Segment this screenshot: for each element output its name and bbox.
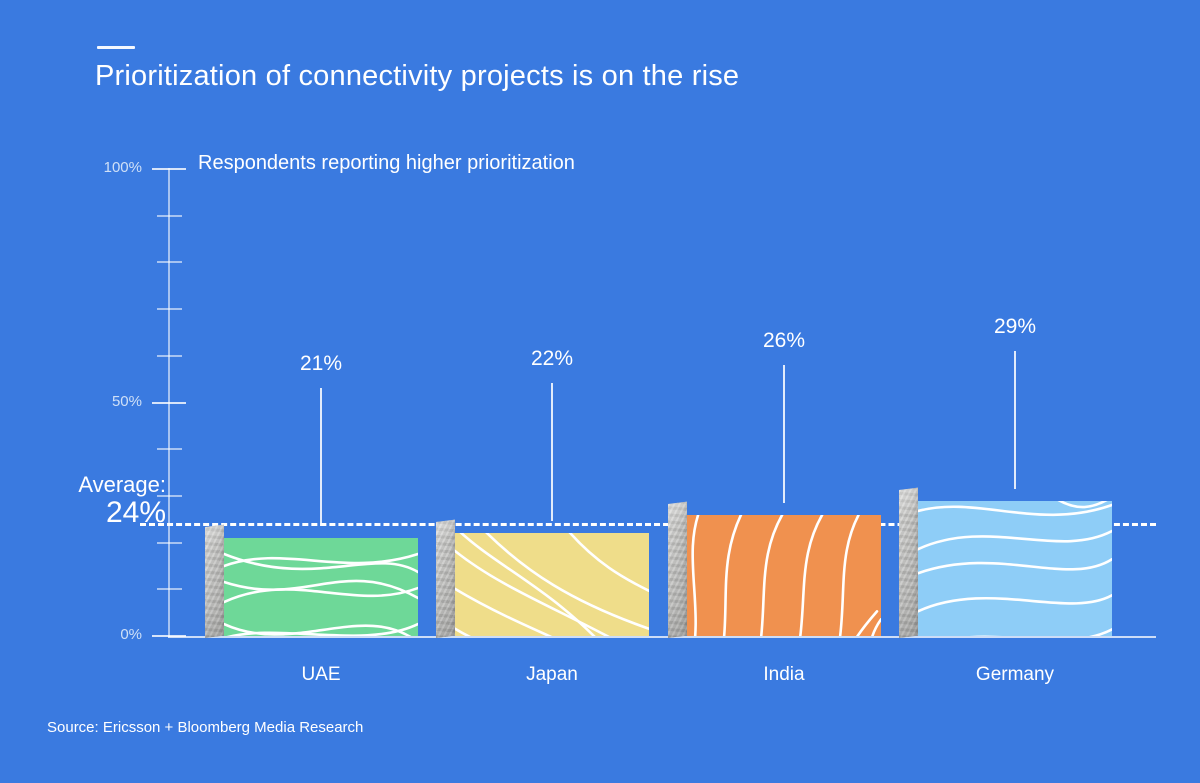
- bar-india[interactable]: [668, 501, 881, 636]
- leader-line-germany: [1014, 351, 1016, 489]
- bar-side-panel: [205, 525, 224, 638]
- x-axis-baseline: [168, 636, 1156, 638]
- y-tick-40: [157, 448, 182, 450]
- y-tick-0: [152, 635, 186, 637]
- bar-face: [224, 538, 418, 636]
- y-tick-10: [157, 588, 182, 590]
- average-annotation: Average: 24%: [36, 473, 166, 529]
- y-tick-90: [157, 215, 182, 217]
- category-label-uae: UAE: [241, 664, 401, 686]
- bar-face: [455, 533, 649, 636]
- category-label-india: India: [704, 664, 864, 686]
- chart-canvas: Prioritization of connectivity projects …: [0, 0, 1200, 783]
- y-axis-tick-labels: 0%50%100%: [60, 0, 142, 783]
- y-tick-label-100: 100%: [62, 159, 142, 176]
- y-tick-80: [157, 261, 182, 263]
- y-tick-60: [157, 355, 182, 357]
- source-note: Source: Ericsson + Bloomberg Media Resea…: [47, 719, 363, 736]
- y-tick-100: [152, 168, 186, 170]
- bar-face: [687, 515, 881, 636]
- y-tick-70: [157, 308, 182, 310]
- value-label-india: 26%: [724, 329, 844, 353]
- plot-area: 0%50%100% Average: 24% 21%UAE22%Japan26%…: [0, 0, 1200, 783]
- bar-japan[interactable]: [436, 519, 649, 636]
- y-tick-20: [157, 542, 182, 544]
- value-label-uae: 21%: [261, 352, 381, 376]
- average-annotation-word: Average:: [36, 473, 166, 496]
- leader-line-uae: [320, 388, 322, 526]
- leader-line-india: [783, 365, 785, 503]
- category-label-japan: Japan: [472, 664, 632, 686]
- average-annotation-value: 24%: [36, 497, 166, 529]
- bar-face: [918, 501, 1112, 636]
- category-label-germany: Germany: [935, 664, 1095, 686]
- value-label-germany: 29%: [955, 315, 1075, 339]
- y-tick-50: [152, 402, 186, 404]
- bar-uae[interactable]: [205, 524, 418, 636]
- value-label-japan: 22%: [492, 347, 612, 371]
- bar-side-panel: [668, 501, 687, 638]
- y-tick-label-0: 0%: [62, 626, 142, 643]
- bar-side-panel: [436, 520, 455, 638]
- leader-line-japan: [551, 383, 553, 521]
- y-tick-label-50: 50%: [62, 393, 142, 410]
- bar-germany[interactable]: [899, 487, 1112, 636]
- bar-side-panel: [899, 487, 918, 638]
